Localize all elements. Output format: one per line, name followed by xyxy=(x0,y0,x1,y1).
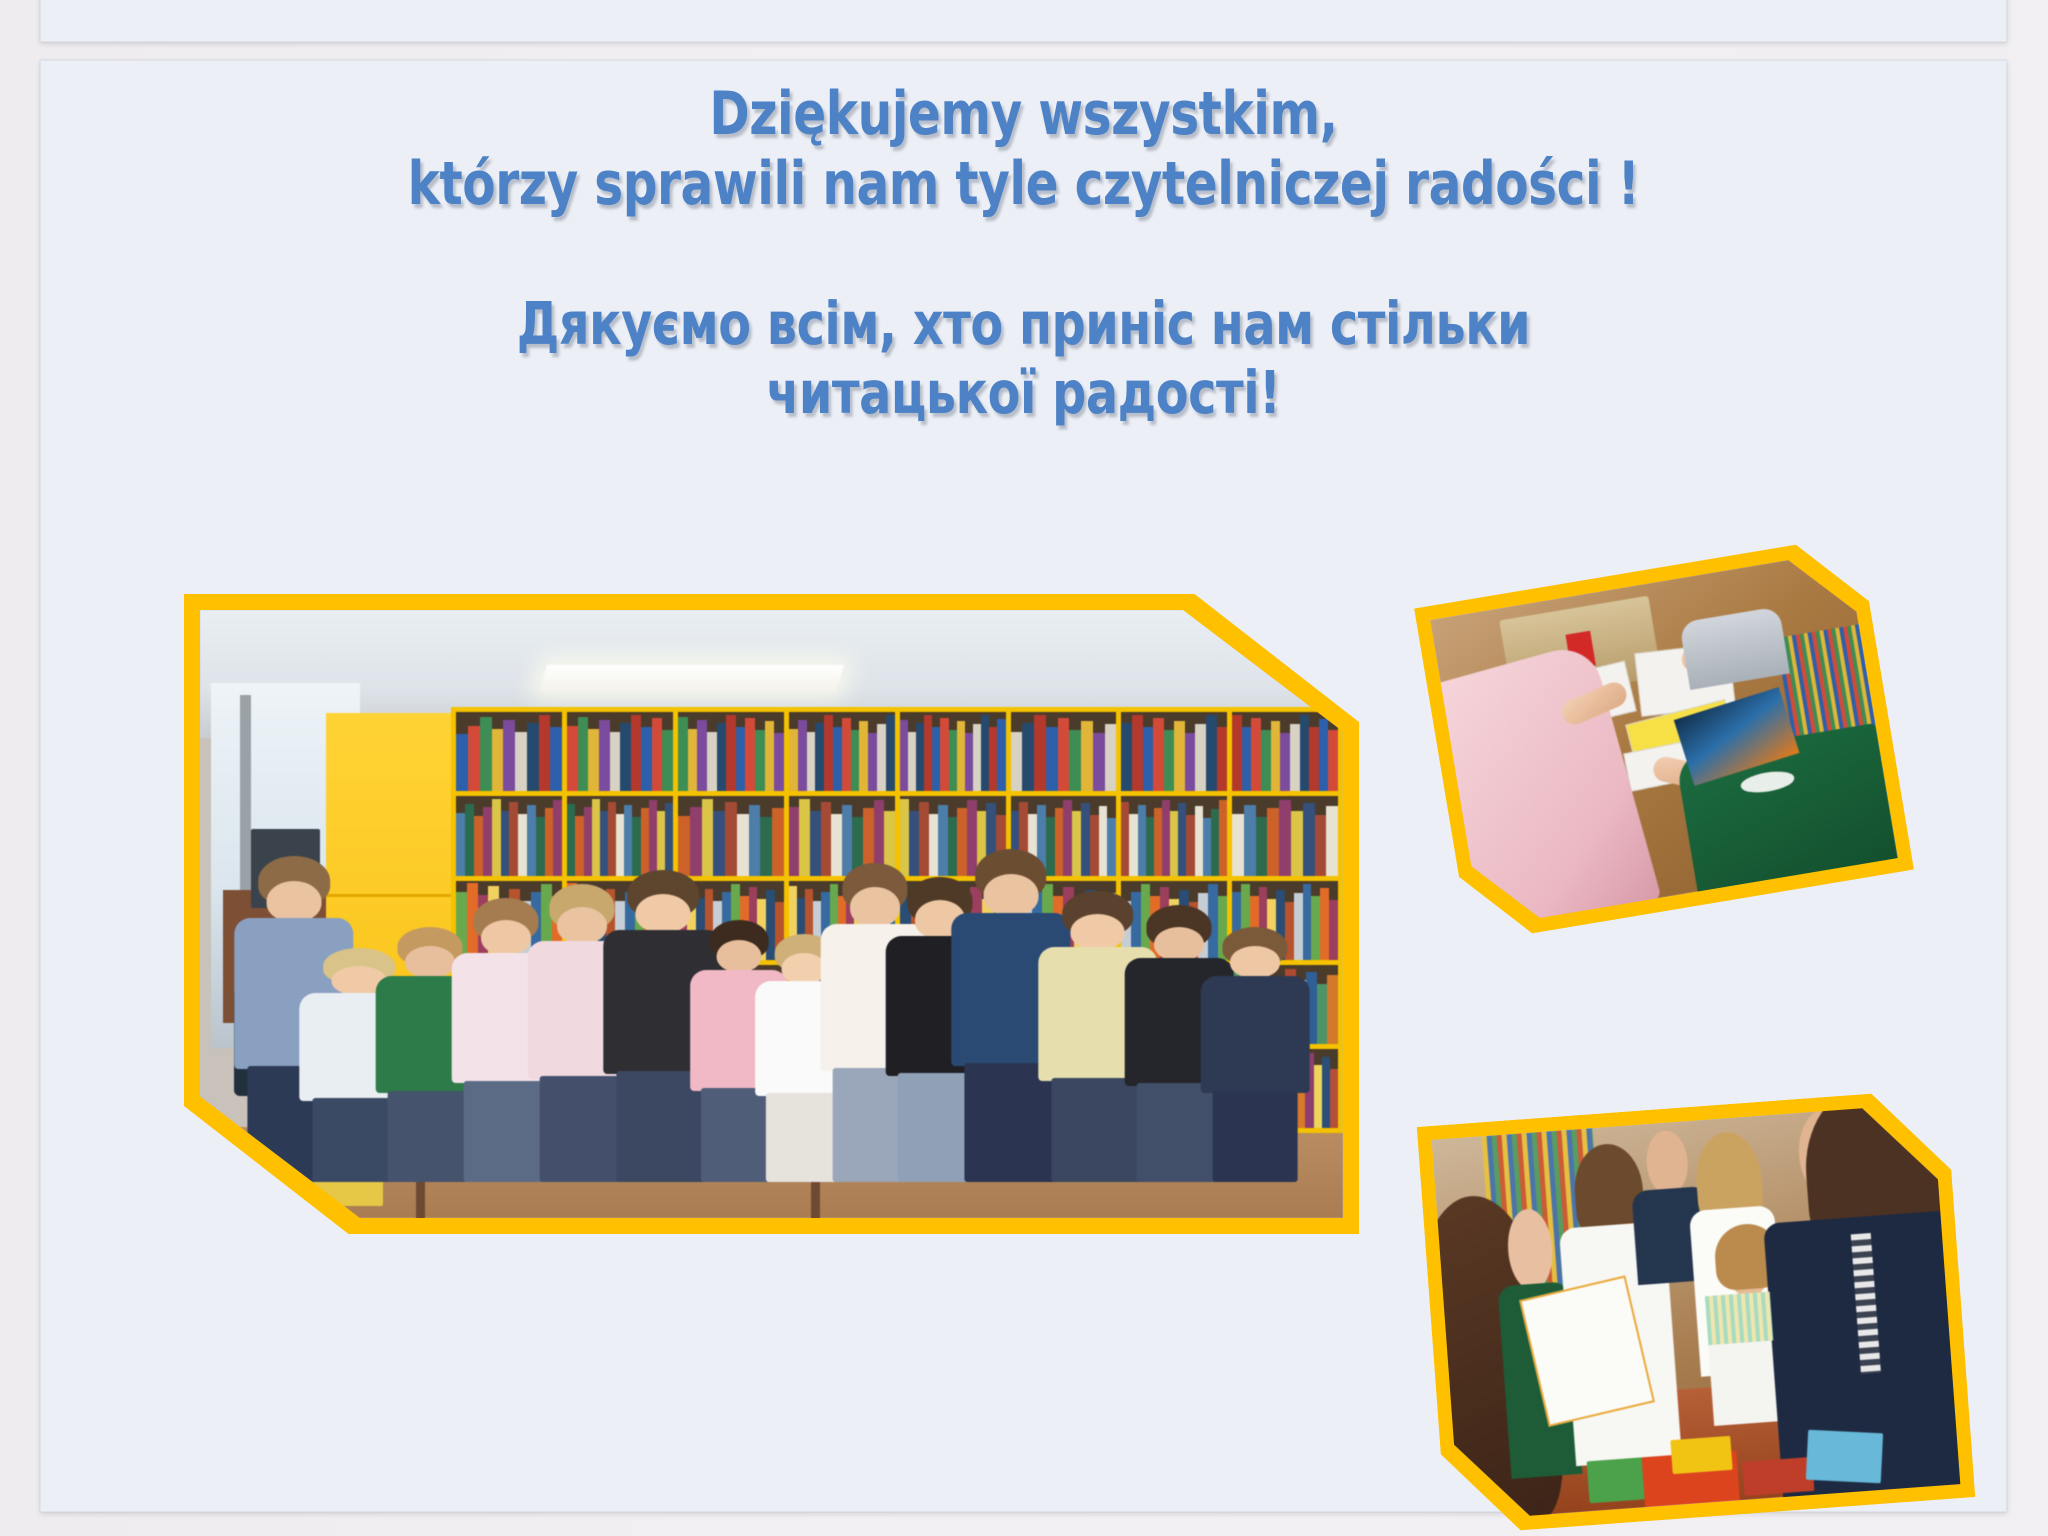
photo-sorting-books[interactable] xyxy=(1414,534,1914,944)
photo-browsing-books[interactable] xyxy=(1417,1088,1976,1536)
slide-heading-polish: Dziękujemy wszystkim, którzy sprawili na… xyxy=(139,79,1908,219)
slide-heading-ukrainian: Дякуємо всім, хто приніс нам стільки чит… xyxy=(247,289,1800,427)
photo-browsing-books-image xyxy=(1432,1103,1961,1521)
previous-slide-card[interactable] xyxy=(40,0,2007,42)
current-slide-card[interactable]: Dziękujemy wszystkim, którzy sprawili na… xyxy=(40,60,2007,1512)
photo-main-image xyxy=(200,610,1343,1218)
photo-main-group[interactable] xyxy=(184,594,1359,1234)
photo-sorting-books-image xyxy=(1430,550,1898,927)
slide-viewer[interactable]: Dziękujemy wszystkim, którzy sprawili na… xyxy=(0,0,2048,1536)
